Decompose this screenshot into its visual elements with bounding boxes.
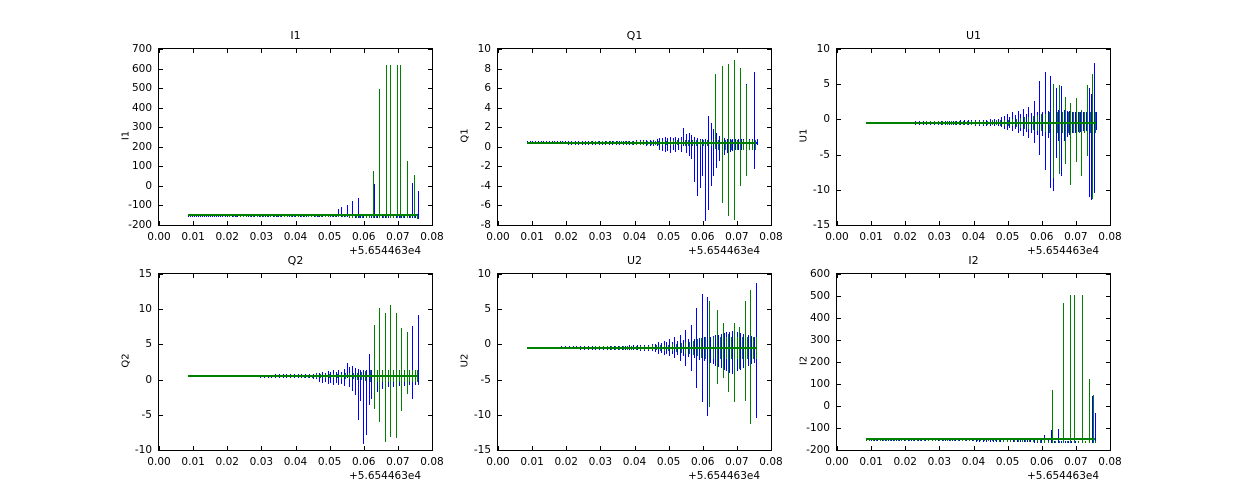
data-segment: [757, 139, 758, 145]
y-tick-label: 600: [114, 63, 152, 75]
data-segment: [738, 139, 739, 150]
y-tick-label: 300: [114, 121, 152, 133]
y-tick-mark: [498, 166, 502, 167]
x-tick-mark: [432, 49, 433, 53]
y-tick-mark: [498, 415, 502, 416]
y-tick-mark: [837, 318, 841, 319]
y-tick-mark: [767, 69, 771, 70]
data-segment: [691, 135, 692, 159]
x-tick-mark: [703, 221, 704, 225]
y-tick-mark: [1106, 450, 1110, 451]
x-tick-label: 0.06: [1030, 456, 1053, 468]
x-tick-mark: [837, 49, 838, 53]
data-segment: [417, 215, 418, 219]
x-tick-mark: [1076, 49, 1077, 53]
x-tick-mark: [871, 221, 872, 225]
x-axis-offset-text: +5.654463e4: [349, 470, 421, 482]
x-tick-mark: [871, 274, 872, 278]
x-tick-mark: [159, 221, 160, 225]
x-tick-mark: [837, 221, 838, 225]
data-segment: [1059, 441, 1060, 443]
matplotlib-figure: I1I1-200-10001002003004005006007000.000.…: [0, 0, 1250, 500]
y-tick-label: 6: [453, 82, 491, 94]
x-tick-label: 0.07: [1064, 231, 1087, 243]
x-tick-mark: [193, 274, 194, 278]
x-tick-mark: [703, 49, 704, 53]
x-tick-label: 0.05: [318, 456, 341, 468]
data-segment: [708, 116, 709, 210]
data-segment: [1081, 110, 1082, 176]
data-segment: [338, 370, 339, 385]
data-segment: [746, 85, 747, 176]
x-tick-mark: [939, 274, 940, 278]
data-segment: [1095, 441, 1096, 444]
x-tick-mark: [1110, 221, 1111, 225]
x-tick-label: 0.02: [216, 231, 239, 243]
y-tick-mark: [1106, 190, 1110, 191]
data-segment: [374, 184, 375, 218]
x-tick-label: 0.02: [894, 456, 917, 468]
y-tick-mark: [837, 406, 841, 407]
y-tick-mark: [837, 155, 841, 156]
x-tick-mark: [398, 446, 399, 450]
y-tick-label: 100: [114, 160, 152, 172]
y-tick-mark: [159, 127, 163, 128]
x-tick-mark: [398, 49, 399, 53]
x-axis-offset-text: +5.654463e4: [688, 470, 760, 482]
y-tick-label: -10: [114, 444, 152, 456]
y-tick-mark: [767, 166, 771, 167]
x-tick-mark: [974, 49, 975, 53]
data-segment: [385, 313, 386, 441]
data-segment: [754, 72, 755, 169]
data-segment: [1067, 441, 1068, 443]
y-tick-mark: [767, 205, 771, 206]
y-tick-mark: [428, 309, 432, 310]
data-segment: [401, 328, 402, 411]
x-tick-label: 0.06: [691, 231, 714, 243]
data-segment: [1087, 85, 1088, 156]
data-segment: [667, 138, 668, 150]
x-tick-mark: [532, 446, 533, 450]
x-tick-mark: [330, 221, 331, 225]
x-tick-label: 0.00: [825, 456, 848, 468]
x-tick-mark: [737, 274, 738, 278]
y-tick-label: 0: [114, 374, 152, 386]
y-tick-mark: [1106, 225, 1110, 226]
subplot-title: I1: [158, 29, 433, 42]
y-tick-label: 5: [114, 338, 152, 350]
data-segment: [1082, 295, 1083, 443]
y-tick-mark: [1106, 406, 1110, 407]
x-tick-label: 0.08: [759, 456, 782, 468]
data-segment: [330, 372, 331, 383]
x-tick-mark: [261, 221, 262, 225]
data-segment: [755, 140, 756, 150]
y-tick-label: -15: [792, 219, 830, 231]
y-tick-mark: [428, 225, 432, 226]
data-segment: [1070, 103, 1071, 185]
y-tick-mark: [498, 309, 502, 310]
y-tick-mark: [159, 166, 163, 167]
x-tick-mark: [296, 221, 297, 225]
x-tick-mark: [1076, 221, 1077, 225]
y-tick-mark: [767, 108, 771, 109]
data-segment: [709, 301, 710, 407]
y-tick-mark: [428, 127, 432, 128]
y-tick-label: -10: [453, 409, 491, 421]
data-segment: [373, 171, 374, 218]
x-tick-label: 0.00: [486, 456, 509, 468]
y-tick-mark: [159, 309, 163, 310]
x-tick-label: 0.06: [352, 231, 375, 243]
data-segment: [705, 139, 706, 221]
y-tick-label: 0: [453, 141, 491, 153]
x-tick-label: 0.07: [725, 456, 748, 468]
y-tick-mark: [428, 415, 432, 416]
baseline-trace: [527, 347, 756, 349]
data-segment: [322, 372, 323, 383]
y-tick-mark: [159, 88, 163, 89]
x-tick-label: 0.03: [250, 231, 273, 243]
data-segment: [1089, 88, 1090, 196]
y-tick-mark: [767, 127, 771, 128]
y-tick-label: 100: [792, 378, 830, 390]
x-tick-mark: [330, 446, 331, 450]
x-tick-label: 0.04: [962, 231, 985, 243]
x-tick-mark: [1076, 446, 1077, 450]
x-tick-mark: [364, 274, 365, 278]
x-tick-mark: [974, 274, 975, 278]
data-segment: [1092, 74, 1093, 199]
plot-area: [497, 273, 772, 451]
x-tick-mark: [1076, 274, 1077, 278]
x-tick-mark: [498, 446, 499, 450]
x-tick-mark: [498, 221, 499, 225]
x-tick-label: 0.04: [623, 456, 646, 468]
x-tick-label: 0.00: [147, 456, 170, 468]
data-segment: [407, 332, 408, 394]
x-tick-mark: [1008, 49, 1009, 53]
y-tick-mark: [428, 380, 432, 381]
y-tick-mark: [837, 225, 841, 226]
x-tick-mark: [837, 446, 838, 450]
x-tick-label: 0.01: [859, 231, 882, 243]
x-tick-mark: [261, 49, 262, 53]
x-tick-mark: [296, 49, 297, 53]
y-tick-mark: [159, 69, 163, 70]
y-tick-label: 400: [114, 102, 152, 114]
x-tick-mark: [566, 49, 567, 53]
x-tick-mark: [939, 221, 940, 225]
x-tick-mark: [635, 49, 636, 53]
y-tick-label: 2: [453, 121, 491, 133]
x-tick-label: 0.06: [352, 456, 375, 468]
y-tick-mark: [159, 380, 163, 381]
y-tick-mark: [1106, 384, 1110, 385]
y-tick-mark: [767, 88, 771, 89]
y-tick-mark: [498, 450, 502, 451]
y-tick-label: 10: [453, 43, 491, 55]
x-tick-mark: [771, 274, 772, 278]
data-segment: [1095, 112, 1096, 133]
data-segment: [1093, 395, 1094, 443]
data-segment: [374, 325, 375, 409]
data-segment: [740, 68, 741, 186]
x-tick-mark: [532, 274, 533, 278]
x-tick-mark: [939, 49, 940, 53]
baseline-trace: [866, 122, 1095, 124]
y-tick-mark: [498, 69, 502, 70]
x-tick-mark: [532, 49, 533, 53]
y-tick-label: 300: [792, 334, 830, 346]
x-tick-label: 0.05: [318, 231, 341, 243]
data-segment: [379, 308, 380, 422]
x-tick-mark: [837, 274, 838, 278]
x-tick-mark: [364, 221, 365, 225]
x-tick-mark: [600, 49, 601, 53]
x-tick-label: 0.02: [555, 456, 578, 468]
y-tick-mark: [767, 344, 771, 345]
data-segment: [715, 74, 716, 148]
x-axis-offset-text: +5.654463e4: [1027, 470, 1099, 482]
x-tick-mark: [771, 221, 772, 225]
y-tick-label: -200: [114, 219, 152, 231]
y-tick-label: 5: [792, 78, 830, 90]
y-tick-mark: [498, 225, 502, 226]
x-tick-mark: [227, 221, 228, 225]
x-tick-label: 0.05: [657, 231, 680, 243]
x-tick-mark: [669, 274, 670, 278]
y-tick-mark: [837, 296, 841, 297]
subplot-title: Q2: [158, 254, 433, 267]
x-tick-mark: [669, 49, 670, 53]
y-tick-label: -5: [453, 374, 491, 386]
data-segment: [1085, 441, 1086, 443]
y-tick-mark: [837, 340, 841, 341]
x-tick-mark: [227, 49, 228, 53]
x-tick-mark: [159, 446, 160, 450]
y-tick-mark: [1106, 155, 1110, 156]
data-segment: [1074, 295, 1075, 443]
data-segment: [750, 290, 751, 424]
x-tick-label: 0.03: [250, 456, 273, 468]
x-tick-mark: [737, 49, 738, 53]
x-tick-mark: [432, 446, 433, 450]
x-tick-label: 0.04: [962, 456, 985, 468]
subplot-title: I2: [836, 254, 1111, 267]
data-segment: [1059, 85, 1060, 174]
subplot-title: U1: [836, 29, 1111, 42]
x-tick-label: 0.02: [216, 456, 239, 468]
y-tick-mark: [837, 384, 841, 385]
x-tick-mark: [227, 274, 228, 278]
y-tick-mark: [837, 84, 841, 85]
x-tick-mark: [600, 274, 601, 278]
y-tick-mark: [159, 415, 163, 416]
x-tick-label: 0.07: [386, 231, 409, 243]
y-tick-mark: [428, 147, 432, 148]
y-tick-mark: [1106, 362, 1110, 363]
x-tick-mark: [532, 221, 533, 225]
data-segment: [715, 335, 716, 365]
data-segment: [1068, 441, 1069, 443]
y-tick-mark: [428, 69, 432, 70]
y-tick-mark: [767, 309, 771, 310]
x-tick-mark: [600, 221, 601, 225]
data-segment: [1048, 441, 1049, 443]
x-tick-label: 0.03: [928, 456, 951, 468]
x-tick-label: 0.04: [623, 231, 646, 243]
y-tick-label: -5: [114, 409, 152, 421]
x-tick-label: 0.03: [589, 456, 612, 468]
y-tick-label: 10: [114, 303, 152, 315]
y-tick-label: 10: [792, 43, 830, 55]
x-tick-mark: [296, 446, 297, 450]
y-tick-mark: [159, 225, 163, 226]
data-segment: [1044, 440, 1045, 442]
x-tick-mark: [566, 274, 567, 278]
x-tick-mark: [364, 446, 365, 450]
y-tick-mark: [428, 88, 432, 89]
data-segment: [390, 305, 391, 437]
y-tick-label: 10: [453, 268, 491, 280]
x-tick-label: 0.04: [284, 231, 307, 243]
x-tick-mark: [635, 446, 636, 450]
x-tick-mark: [905, 221, 906, 225]
data-segment: [734, 60, 735, 220]
data-segment: [756, 337, 757, 360]
data-segment: [355, 368, 356, 395]
data-segment: [400, 65, 401, 218]
data-segment: [707, 297, 708, 417]
x-tick-mark: [1042, 446, 1043, 450]
x-tick-mark: [974, 446, 975, 450]
data-segment: [417, 370, 418, 381]
x-tick-label: 0.02: [555, 231, 578, 243]
y-tick-label: -2: [453, 160, 491, 172]
data-segment: [412, 326, 413, 399]
data-segment: [699, 338, 700, 360]
data-segment: [386, 65, 387, 218]
data-segment: [1071, 441, 1072, 443]
y-tick-label: 400: [792, 312, 830, 324]
data-segment: [1040, 440, 1041, 442]
y-tick-label: 0: [792, 400, 830, 412]
y-tick-mark: [159, 108, 163, 109]
x-tick-label: 0.01: [181, 231, 204, 243]
y-tick-label: 8: [453, 63, 491, 75]
x-tick-mark: [159, 49, 160, 53]
x-tick-label: 0.01: [181, 456, 204, 468]
x-tick-label: 0.07: [386, 456, 409, 468]
x-tick-mark: [566, 221, 567, 225]
y-tick-label: 200: [114, 141, 152, 153]
x-tick-label: 0.00: [825, 231, 848, 243]
x-tick-label: 0.02: [894, 231, 917, 243]
y-tick-label: 4: [453, 102, 491, 114]
x-tick-mark: [1042, 49, 1043, 53]
data-segment: [1065, 97, 1066, 164]
y-tick-mark: [837, 428, 841, 429]
x-tick-label: 0.06: [691, 456, 714, 468]
data-segment: [363, 370, 364, 445]
y-tick-mark: [498, 380, 502, 381]
data-segment: [1053, 84, 1054, 178]
x-tick-mark: [905, 446, 906, 450]
x-tick-mark: [737, 221, 738, 225]
y-tick-mark: [1106, 318, 1110, 319]
y-tick-mark: [428, 450, 432, 451]
x-tick-mark: [871, 49, 872, 53]
y-tick-mark: [498, 127, 502, 128]
data-segment: [1063, 303, 1064, 442]
baseline-trace: [188, 214, 417, 216]
data-segment: [723, 323, 724, 379]
y-tick-mark: [428, 186, 432, 187]
x-tick-mark: [193, 221, 194, 225]
x-tick-mark: [566, 446, 567, 450]
x-tick-mark: [227, 446, 228, 450]
x-tick-mark: [1042, 221, 1043, 225]
data-segment: [1042, 112, 1043, 137]
y-tick-mark: [767, 415, 771, 416]
y-tick-mark: [767, 186, 771, 187]
x-tick-mark: [939, 446, 940, 450]
x-tick-mark: [330, 274, 331, 278]
y-tick-label: 600: [792, 268, 830, 280]
y-tick-mark: [498, 108, 502, 109]
data-segment: [716, 133, 717, 168]
y-tick-label: 500: [114, 82, 152, 94]
x-tick-mark: [330, 49, 331, 53]
y-tick-mark: [159, 186, 163, 187]
x-tick-mark: [1008, 221, 1009, 225]
data-segment: [1052, 390, 1053, 442]
y-tick-label: -5: [792, 149, 830, 161]
y-tick-mark: [428, 108, 432, 109]
y-tick-mark: [1106, 340, 1110, 341]
y-tick-label: -200: [792, 444, 830, 456]
x-tick-label: 0.08: [759, 231, 782, 243]
x-tick-label: 0.04: [284, 456, 307, 468]
y-tick-label: 5: [453, 303, 491, 315]
y-tick-mark: [837, 190, 841, 191]
data-segment: [1070, 295, 1071, 443]
data-segment: [1076, 98, 1077, 161]
x-tick-mark: [498, 49, 499, 53]
data-segment: [414, 175, 415, 218]
x-tick-mark: [398, 221, 399, 225]
data-segment: [1089, 379, 1090, 443]
data-segment: [1096, 112, 1097, 130]
x-tick-label: 0.00: [147, 231, 170, 243]
x-tick-label: 0.08: [420, 231, 443, 243]
y-tick-label: -8: [453, 219, 491, 231]
x-tick-mark: [398, 274, 399, 278]
data-segment: [1065, 441, 1066, 443]
data-segment: [1078, 441, 1079, 443]
y-tick-label: -100: [114, 199, 152, 211]
y-tick-label: 500: [792, 290, 830, 302]
data-segment: [1050, 76, 1051, 189]
data-segment: [1055, 441, 1056, 443]
x-tick-label: 0.01: [859, 456, 882, 468]
x-tick-label: 0.05: [657, 456, 680, 468]
data-segment: [407, 161, 408, 218]
x-tick-mark: [432, 274, 433, 278]
x-tick-mark: [737, 446, 738, 450]
